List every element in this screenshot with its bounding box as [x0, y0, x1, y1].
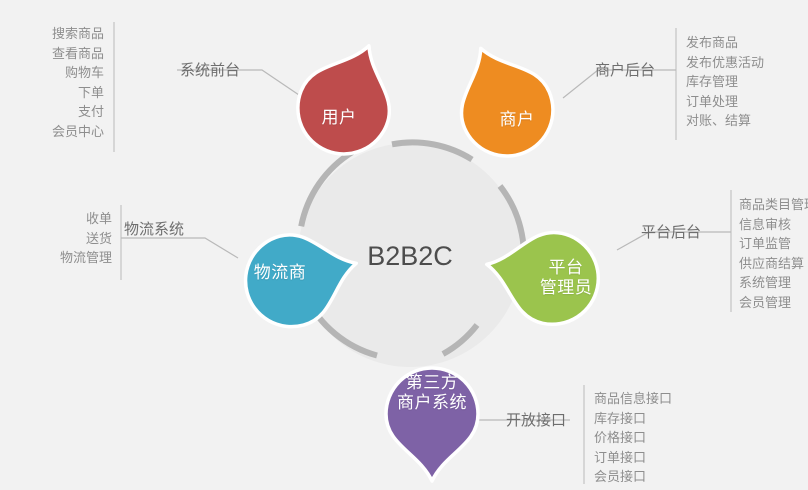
list-item: 会员管理: [739, 293, 808, 313]
category-label-merchant-backend: 商户后台: [595, 59, 655, 80]
list-item: 系统管理: [739, 273, 808, 293]
diagram-canvas: B2B2C: [0, 0, 808, 490]
list-item: 下单: [0, 83, 104, 103]
pin-label-platform-admin: 平台 管理员: [525, 258, 607, 298]
pin-label-platform-admin-line1: 平台: [525, 258, 607, 278]
category-label-logistics-system: 物流系统: [124, 218, 184, 239]
list-item: 支付: [0, 102, 104, 122]
pin-label-merchant: 商户: [477, 110, 557, 130]
list-item: 订单处理: [686, 92, 764, 112]
item-list-open-api: 商品信息接口 库存接口 价格接口 订单接口 会员接口: [594, 389, 672, 487]
list-item: 物流管理: [8, 248, 112, 268]
item-list-merchant-backend: 发布商品 发布优惠活动 库存管理 订单处理 对账、结算: [686, 33, 764, 131]
item-list-logistics-system: 收单 送货 物流管理: [8, 209, 112, 268]
list-item: 对账、结算: [686, 111, 764, 131]
list-item: 商品信息接口: [594, 389, 672, 409]
list-item: 信息审核: [739, 215, 808, 235]
list-item: 库存接口: [594, 409, 672, 429]
category-label-platform-backend: 平台后台: [641, 221, 701, 242]
list-item: 送货: [8, 229, 112, 249]
list-item: 会员中心: [0, 122, 104, 142]
list-item: 发布商品: [686, 33, 764, 53]
list-item: 查看商品: [0, 44, 104, 64]
center-label-text: B2B2C: [367, 241, 453, 271]
pin-label-third-party-line2: 商户系统: [383, 393, 481, 413]
list-item: 搜索商品: [0, 24, 104, 44]
list-item: 订单接口: [594, 448, 672, 468]
pin-label-logistics: 物流商: [238, 263, 322, 283]
list-item: 购物车: [0, 63, 104, 83]
item-list-platform-backend: 商品类目管理 信息审核 订单监管 供应商结算 系统管理 会员管理: [739, 195, 808, 312]
list-item: 收单: [8, 209, 112, 229]
list-item: 发布优惠活动: [686, 53, 764, 73]
pin-label-user: 用户: [299, 108, 379, 128]
category-label-system-frontend: 系统前台: [180, 59, 240, 80]
list-item: 供应商结算: [739, 254, 808, 274]
list-item: 会员接口: [594, 467, 672, 487]
list-item: 订单监管: [739, 234, 808, 254]
pin-label-third-party-line1: 第三方: [383, 373, 481, 393]
list-item: 库存管理: [686, 72, 764, 92]
list-item: 商品类目管理: [739, 195, 808, 215]
item-list-system-frontend: 搜索商品 查看商品 购物车 下单 支付 会员中心: [0, 24, 104, 141]
pin-label-third-party: 第三方 商户系统: [383, 373, 481, 413]
list-item: 价格接口: [594, 428, 672, 448]
pin-label-platform-admin-line2: 管理员: [525, 278, 607, 298]
category-label-open-api: 开放接口: [506, 409, 566, 430]
